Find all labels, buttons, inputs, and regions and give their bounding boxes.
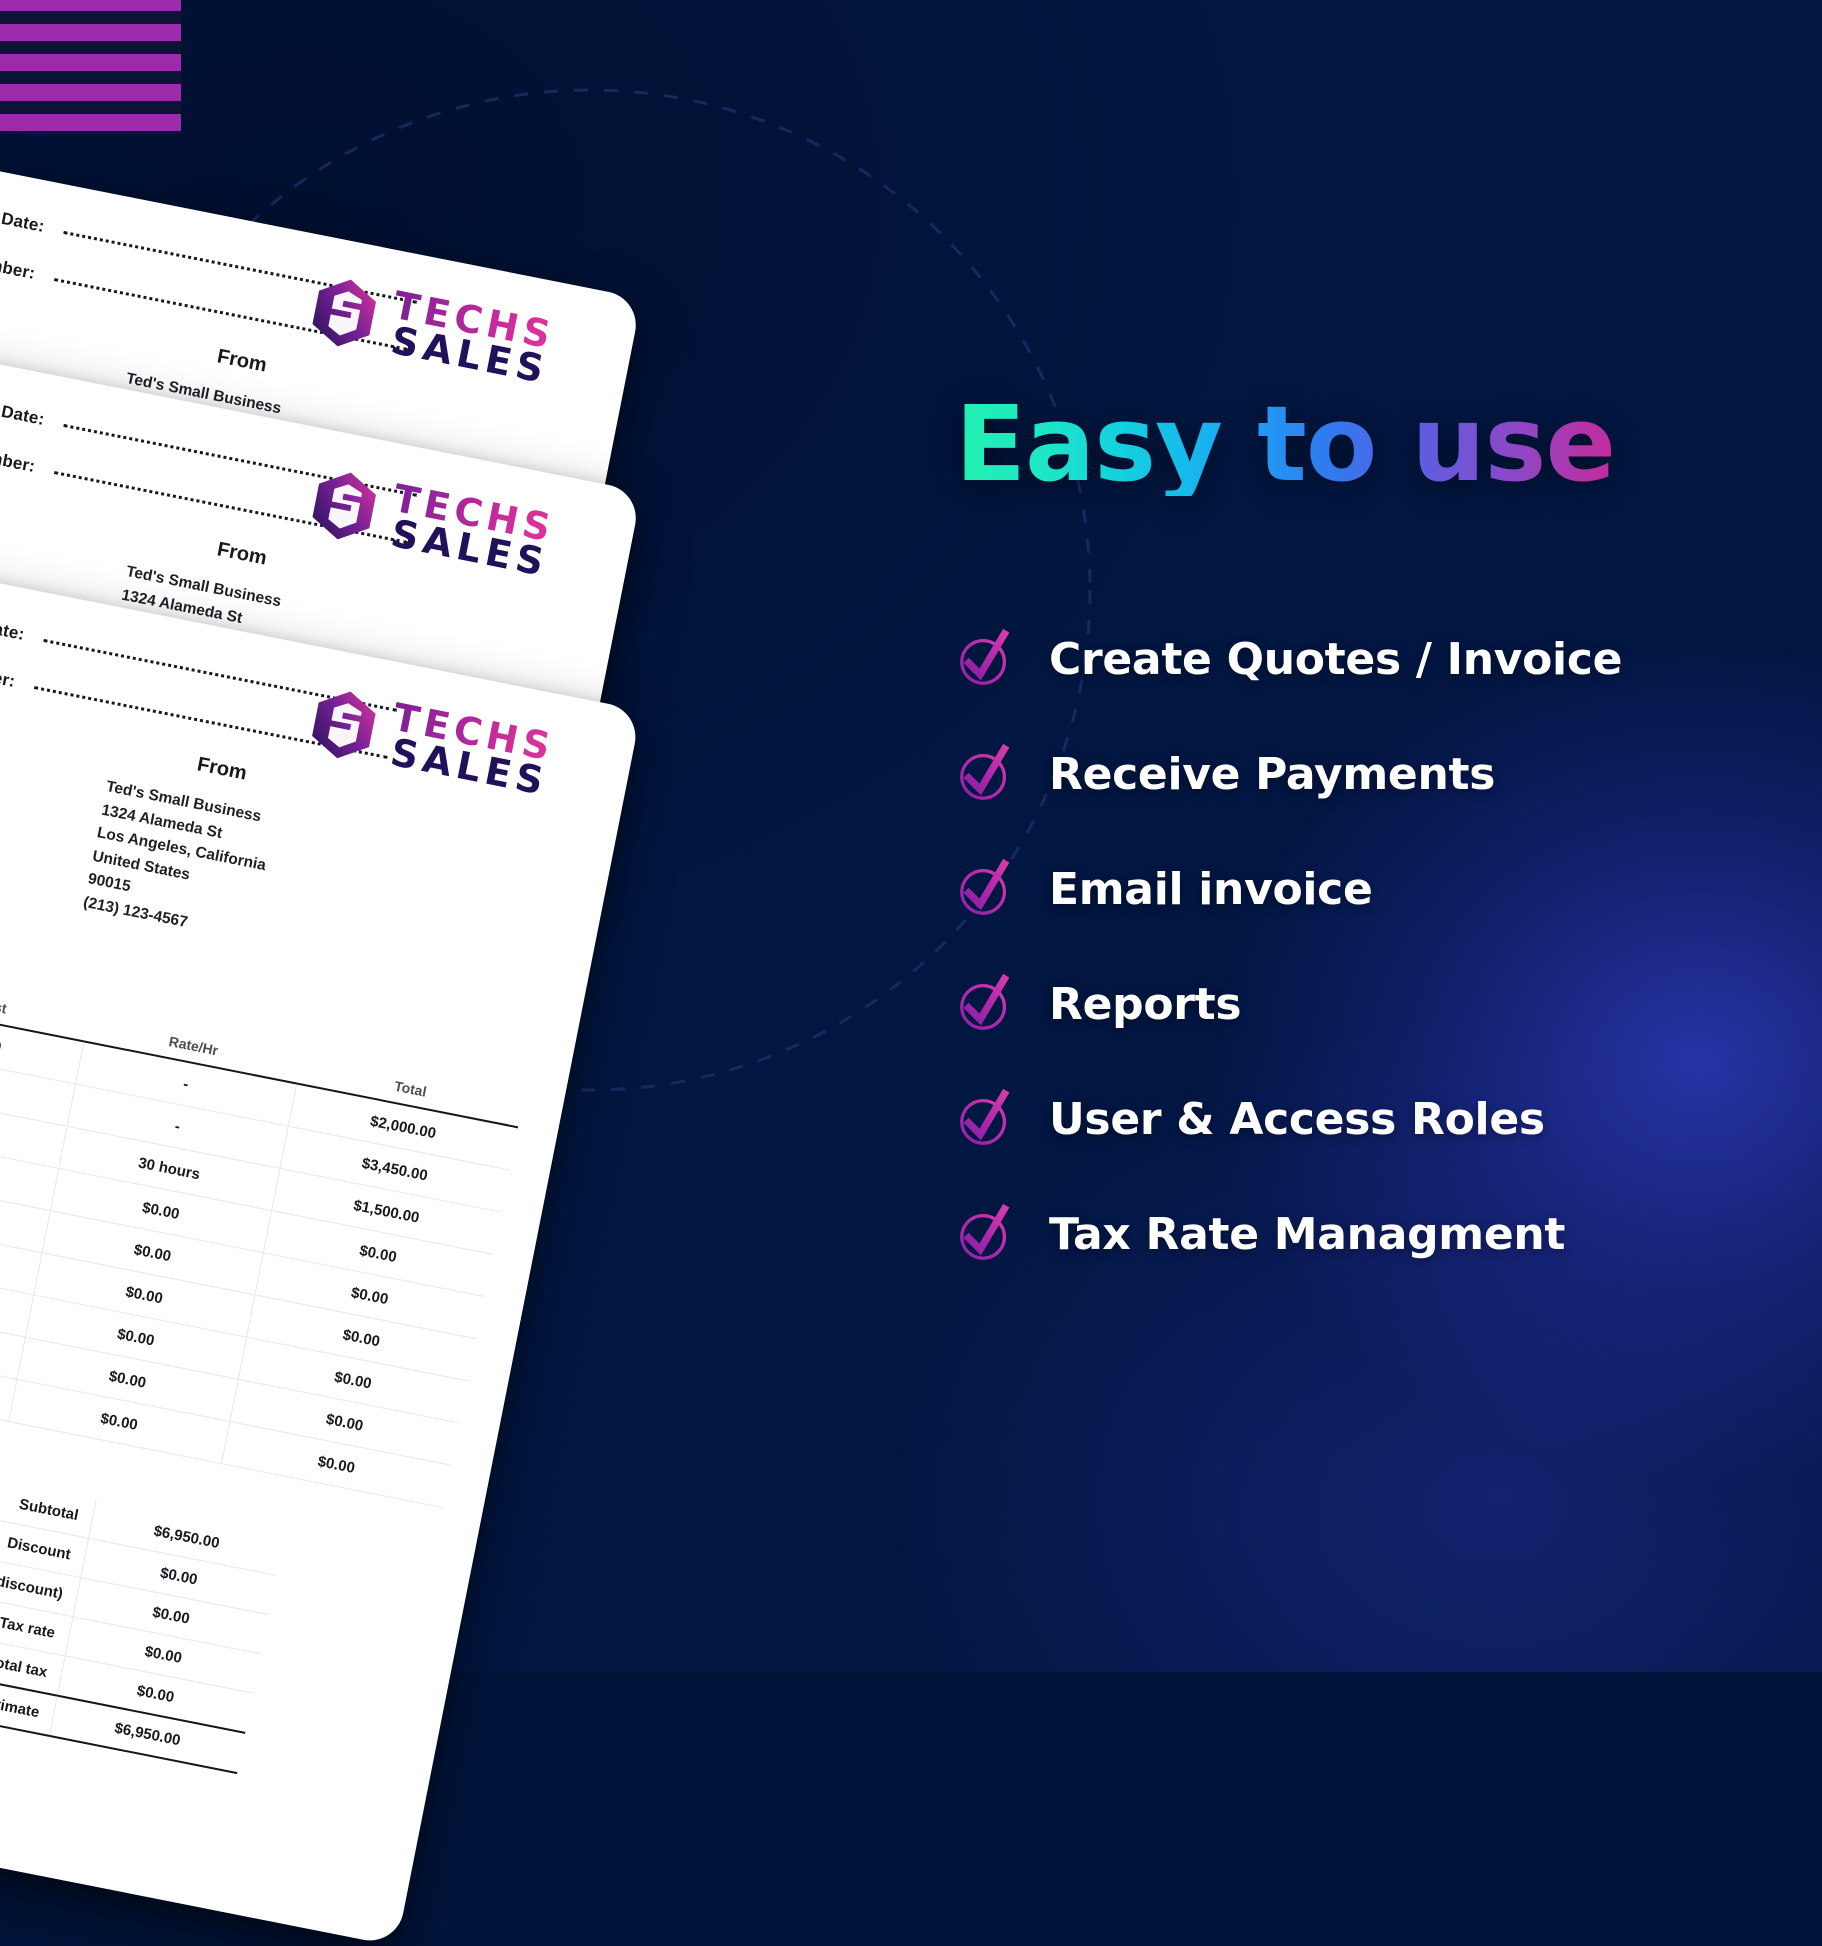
techssales-hexagon-icon [305, 464, 384, 547]
feature-list: Create Quotes / InvoiceReceive PaymentsE… [955, 610, 1775, 1283]
marketing-panel: Easy to use Create Quotes / InvoiceRecei… [955, 0, 1815, 1672]
line-items-table: Unit Cost Rate/Hr Total $2,000.00-$2,000… [0, 928, 523, 1508]
check-circle-icon [955, 1203, 1017, 1265]
list-item-label: User & Access Roles [1049, 1094, 1545, 1145]
list-item: Reports [955, 955, 1775, 1053]
list-item: Email invoice [955, 840, 1775, 938]
page-title: Easy to use [955, 392, 1615, 496]
check-circle-icon [955, 1088, 1017, 1150]
list-item: Create Quotes / Invoice [955, 610, 1775, 708]
list-item-label: Tax Rate Managment [1049, 1209, 1565, 1260]
date-label: Date: [0, 176, 46, 236]
invoice-card-front: Date: Invoice Number: Bill To Steve Chry… [0, 520, 641, 1946]
check-circle-icon [955, 628, 1017, 690]
date-label: Date: [0, 584, 26, 644]
list-item-label: Email invoice [1049, 864, 1373, 915]
totals-table: Subtotal$6,950.00Discount$0.00Subtotal (… [0, 1453, 284, 1774]
list-item: Tax Rate Managment [955, 1185, 1775, 1283]
check-circle-icon [955, 973, 1017, 1035]
check-circle-icon [955, 743, 1017, 805]
techssales-hexagon-icon [305, 271, 384, 354]
techssales-hexagon-icon [305, 683, 384, 766]
techssales-logo: TECHS SALES [305, 683, 558, 801]
list-item: Receive Payments [955, 725, 1775, 823]
list-item: User & Access Roles [955, 1070, 1775, 1168]
check-circle-icon [955, 858, 1017, 920]
list-item-label: Reports [1049, 979, 1241, 1030]
invoice-card-stack: Date: Invoice Number: Bill To Steve Chry… [0, 0, 760, 1672]
list-item-label: Receive Payments [1049, 749, 1495, 800]
date-label: Date: [0, 369, 46, 429]
list-item-label: Create Quotes / Invoice [1049, 634, 1622, 685]
from-block: From Ted's Small Business 1324 Alameda S… [81, 737, 332, 957]
